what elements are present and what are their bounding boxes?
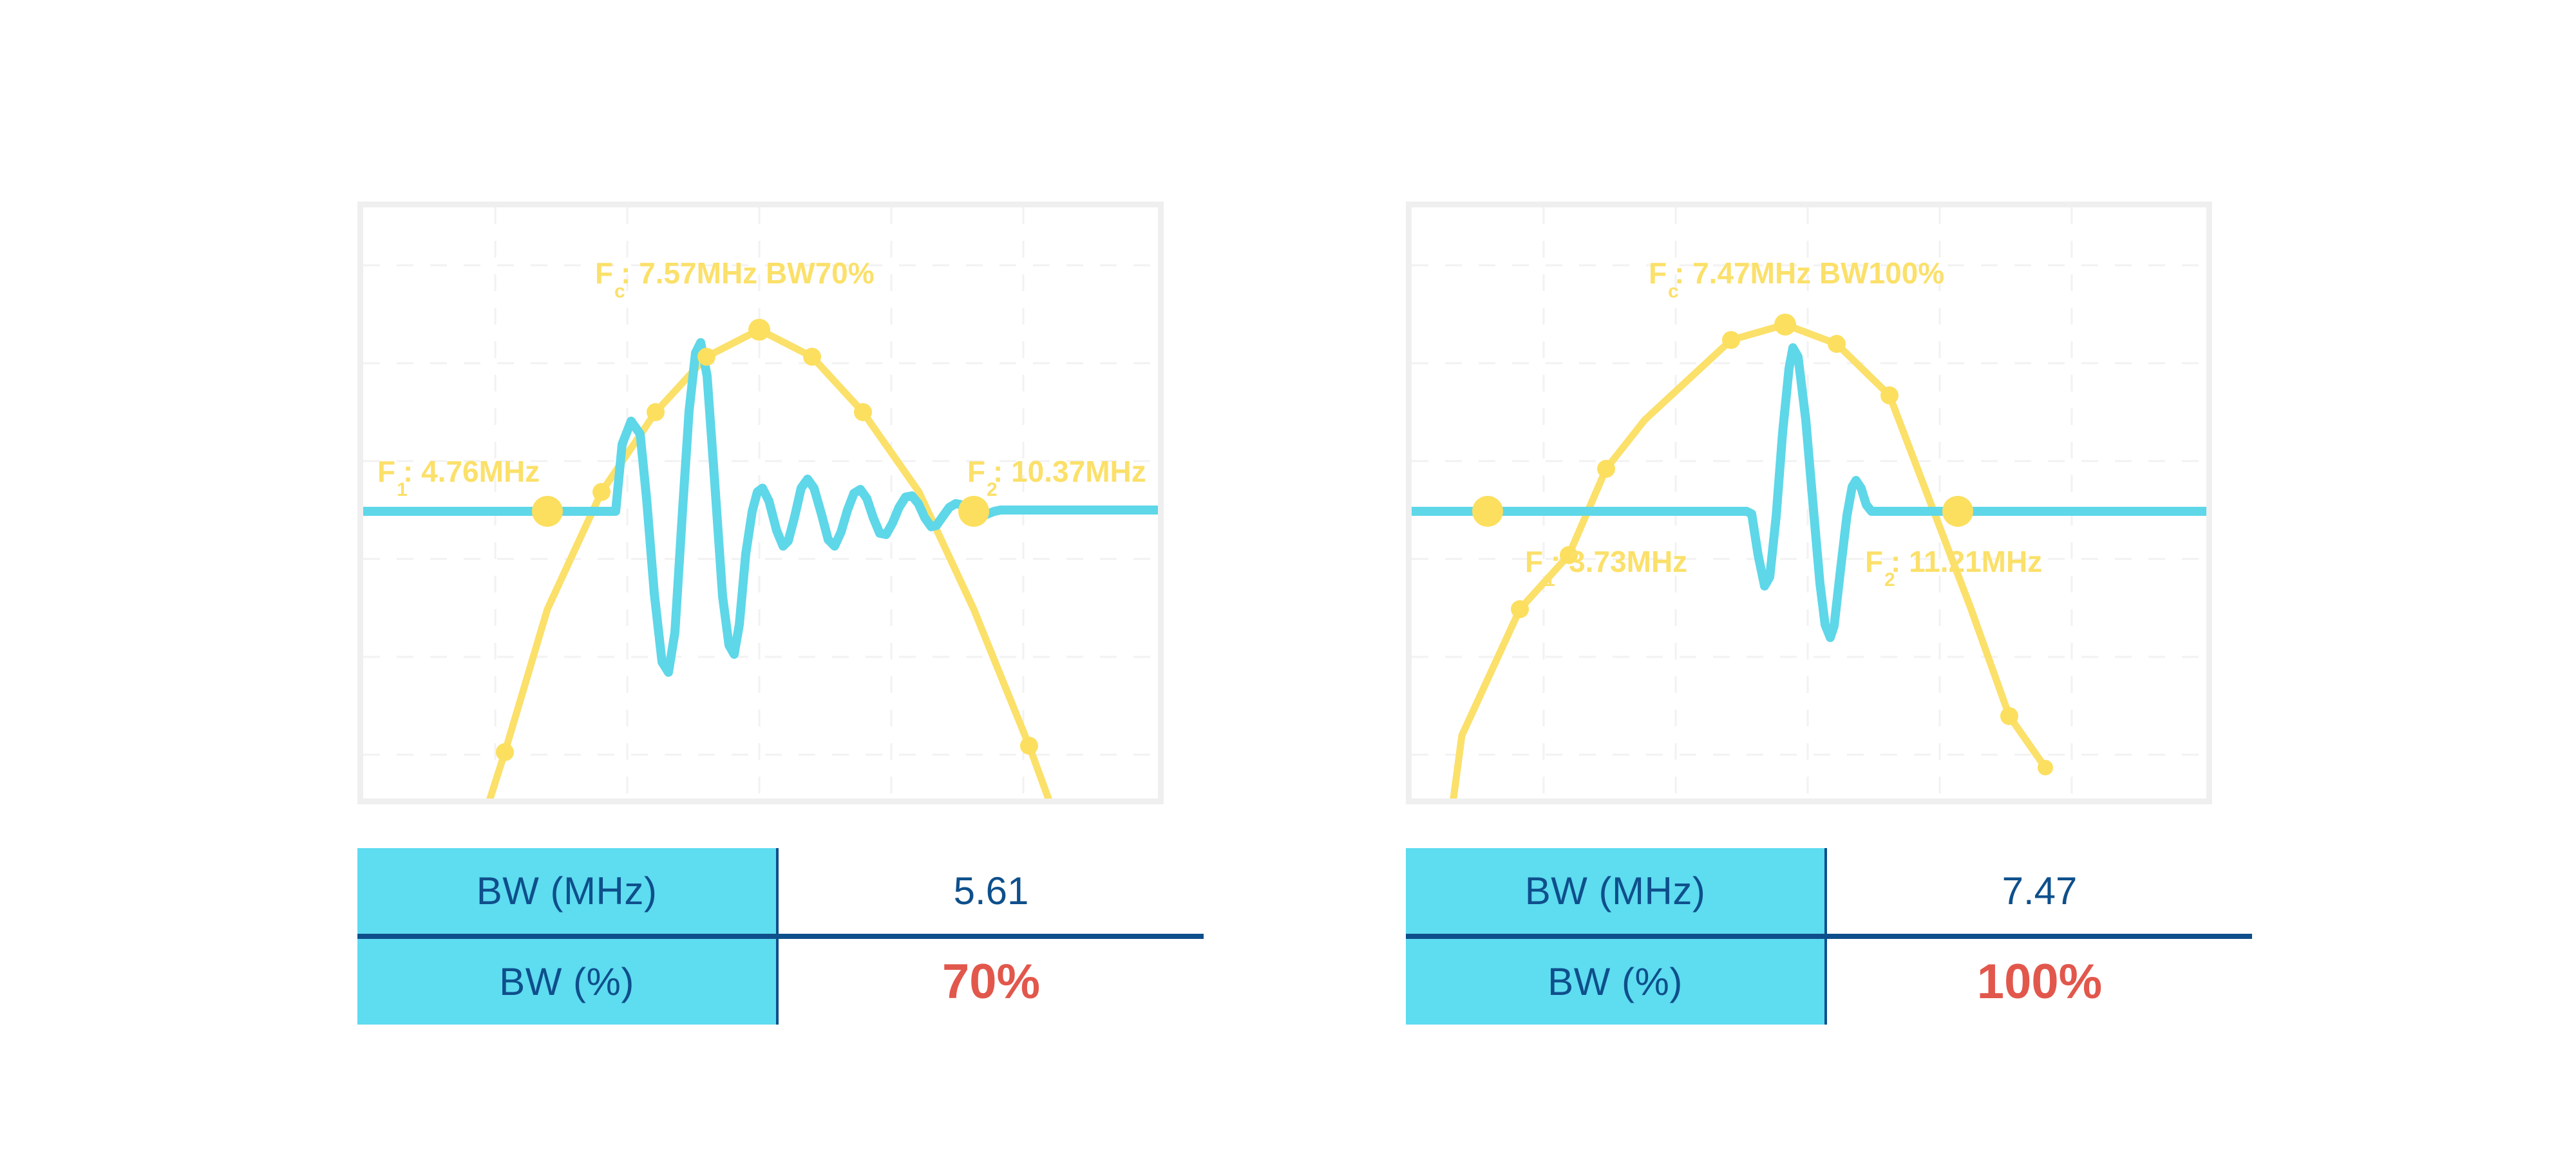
data-point-marker [697, 348, 715, 366]
data-point-marker [1880, 386, 1899, 404]
gridlines [363, 207, 1158, 799]
f2-symbol: F [1865, 545, 1883, 578]
f1-label: F 1 : 3.73MHz [1525, 545, 1687, 591]
f2-crossing-marker [958, 496, 989, 527]
spectrum-svg-left: F c : 7.57MHz BW70% F 1 : 4.76MHz F 2 : … [363, 207, 1158, 799]
row-value-bw-mhz: 7.47 [1826, 848, 2252, 936]
row-label-bw-mhz: BW (MHz) [357, 848, 777, 936]
panel-group-right: F c : 7.47MHz BW100% F 1 : 3.73MHz F 2 :… [1406, 202, 2252, 1025]
peak-marker [1774, 314, 1796, 336]
data-point-marker [1020, 737, 1038, 755]
data-point-marker [496, 743, 514, 761]
f2-symbol: F [967, 455, 985, 488]
data-point-marker [2000, 707, 2018, 725]
table-row: BW (MHz) 7.47 [1406, 848, 2252, 936]
f2-text: : 10.37MHz [993, 455, 1146, 488]
row-value-bw-mhz: 5.61 [777, 848, 1204, 936]
data-point-marker [1511, 600, 1529, 618]
f1-crossing-marker [1472, 496, 1503, 527]
center-freq-text: : 7.47MHz BW100% [1674, 256, 1944, 290]
center-freq-symbol: F [595, 256, 613, 290]
bandwidth-table-left: BW (MHz) 5.61 BW (%) 70% [357, 848, 1204, 1025]
panel-group-left: F c : 7.57MHz BW70% F 1 : 4.76MHz F 2 : … [357, 202, 1204, 1025]
f2-label: F 2 : 10.37MHz [967, 455, 1146, 500]
row-value-bw-percent: 100% [1826, 936, 2252, 1025]
spectrum-plot-left: F c : 7.57MHz BW70% F 1 : 4.76MHz F 2 : … [357, 202, 1164, 804]
data-point-marker [647, 403, 665, 421]
center-frequency-label: F c : 7.57MHz BW70% [595, 256, 875, 302]
f1-symbol: F [377, 455, 395, 488]
table-row: BW (MHz) 5.61 [357, 848, 1204, 936]
pulse-echo-waveform [363, 343, 1158, 672]
center-freq-text: : 7.57MHz BW70% [621, 256, 875, 290]
f2-label: F 2 : 11.21MHz [1865, 545, 2042, 591]
table-row: BW (%) 100% [1406, 936, 2252, 1025]
data-point-marker [854, 403, 872, 421]
spectrum-curve [465, 330, 1083, 799]
center-frequency-label: F c : 7.47MHz BW100% [1649, 256, 1944, 302]
data-point-marker [2038, 760, 2053, 775]
f1-crossing-marker [532, 496, 563, 527]
f1-symbol: F [1525, 545, 1543, 578]
data-point-marker [803, 348, 821, 366]
f2-crossing-marker [1942, 496, 1973, 527]
row-label-bw-mhz: BW (MHz) [1406, 848, 1826, 936]
peak-marker [748, 319, 770, 341]
data-point-marker [1828, 335, 1846, 353]
table-row: BW (%) 70% [357, 936, 1204, 1025]
bandwidth-table-right: BW (MHz) 7.47 BW (%) 100% [1406, 848, 2252, 1025]
f1-text: : 3.73MHz [1551, 545, 1687, 578]
data-point-marker [1722, 331, 1740, 349]
data-point-marker [1597, 460, 1615, 478]
row-value-bw-percent: 70% [777, 936, 1204, 1025]
f1-text: : 4.76MHz [403, 455, 540, 488]
row-label-bw-percent: BW (%) [357, 936, 777, 1025]
data-point-marker [592, 483, 611, 501]
figure-canvas: F c : 7.57MHz BW70% F 1 : 4.76MHz F 2 : … [0, 0, 2576, 1154]
row-label-bw-percent: BW (%) [1406, 936, 1826, 1025]
f2-text: : 11.21MHz [1891, 545, 2042, 578]
spectrum-svg-right: F c : 7.47MHz BW100% F 1 : 3.73MHz F 2 :… [1412, 207, 2206, 799]
spectrum-plot-right: F c : 7.47MHz BW100% F 1 : 3.73MHz F 2 :… [1406, 202, 2212, 804]
center-freq-symbol: F [1649, 256, 1667, 290]
